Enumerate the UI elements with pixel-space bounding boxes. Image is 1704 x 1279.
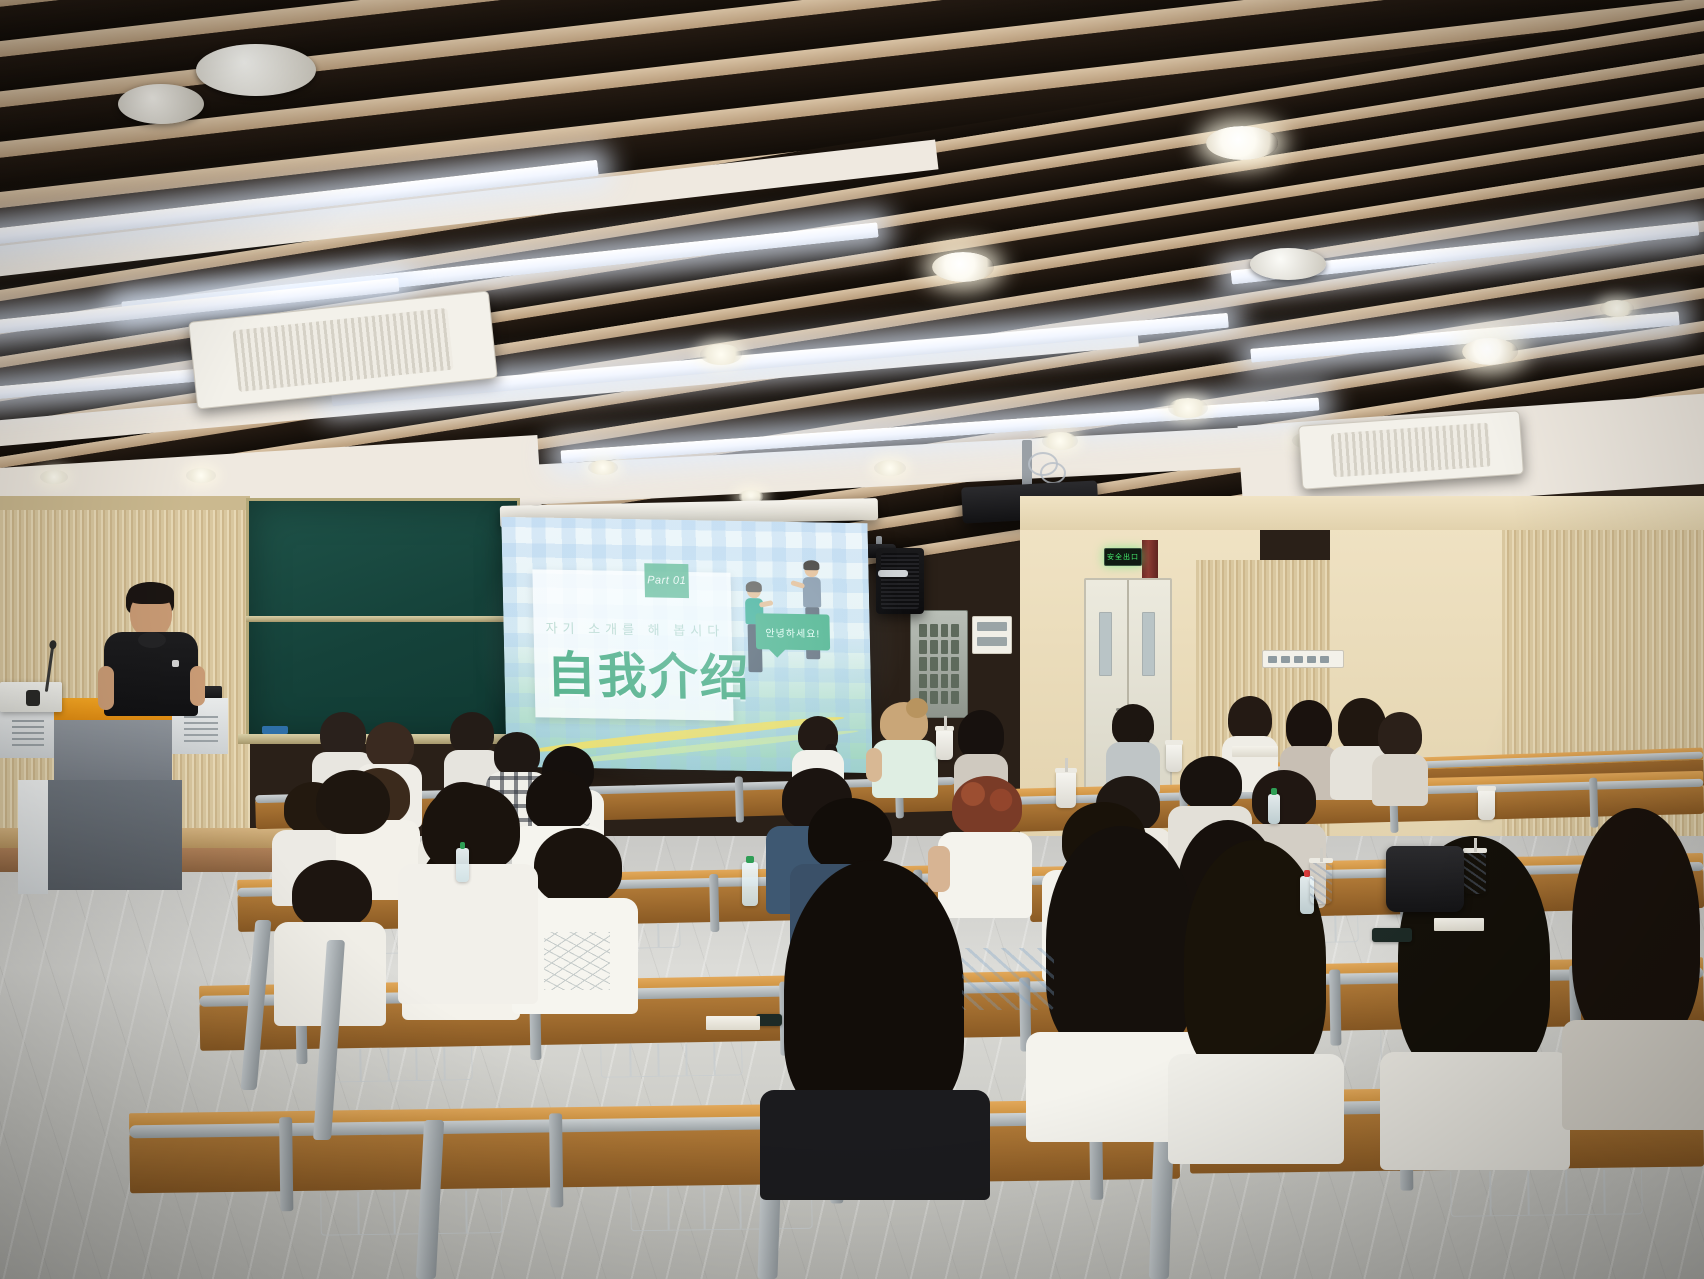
ceiling-downlight <box>700 344 742 365</box>
projector-cable <box>1040 462 1066 484</box>
notebook <box>1434 918 1484 931</box>
water-bottle <box>456 848 469 882</box>
figure-arm <box>759 600 774 608</box>
student-hair <box>1378 712 1422 758</box>
notebook <box>1232 746 1278 757</box>
drink-cup <box>1310 862 1332 904</box>
student-hair-long <box>1572 808 1700 1044</box>
student-hair <box>366 722 414 768</box>
water-bottle <box>742 862 758 906</box>
distribution-box <box>972 616 1012 654</box>
seat-post <box>549 1113 563 1207</box>
podium-side-wing-left <box>0 706 54 758</box>
slide-title: 自我介绍 <box>546 636 752 711</box>
slide-greeting-banner: 안녕하세요! <box>755 613 830 650</box>
door-window <box>1142 612 1155 676</box>
panel-buttons[interactable] <box>919 624 959 705</box>
seat-post <box>279 1117 293 1211</box>
mic-base <box>26 690 40 706</box>
speaker-bracket <box>878 570 908 577</box>
front-wall-slat-panel <box>0 496 250 510</box>
drink-cup <box>1464 852 1486 894</box>
book-basket <box>600 1042 743 1077</box>
figure-hair <box>803 560 819 570</box>
student-hair <box>422 784 520 872</box>
upper-wall-band <box>1020 496 1704 530</box>
student-front <box>398 784 538 984</box>
student-hair <box>316 770 390 834</box>
ceiling-downlight <box>874 460 906 476</box>
speaker-grille <box>881 553 919 608</box>
smartphone[interactable] <box>1372 928 1412 942</box>
exit-sign-label: 安全出口 <box>1107 552 1139 562</box>
lecturer-arm-right <box>190 666 205 706</box>
smoke-detector-icon <box>118 84 204 124</box>
switch-toggle[interactable] <box>1268 656 1277 663</box>
lecture-hall-photo: 安全出口 Part 01 자기 소개를 해 봅시다 自我介绍 <box>0 0 1704 1279</box>
student-hair <box>958 710 1004 760</box>
ceiling-downlight <box>1168 398 1208 418</box>
notebook <box>706 1016 760 1030</box>
shirt-logo-icon <box>172 660 179 667</box>
sprinkler-head-icon <box>196 44 316 96</box>
student <box>872 702 938 790</box>
ceiling-downlight <box>932 252 994 282</box>
water-bottle <box>1268 794 1280 824</box>
ceiling-downlight <box>186 468 216 483</box>
switch-toggle[interactable] <box>1294 656 1303 663</box>
student <box>1372 712 1428 798</box>
ceiling-downlight <box>40 470 68 484</box>
student-torso <box>1562 1020 1704 1130</box>
lecturer <box>96 582 206 722</box>
student-torso <box>398 864 538 1004</box>
drink-cup <box>1056 772 1076 808</box>
figure-hair <box>746 581 762 592</box>
banner-label: 안녕하세요! <box>765 624 820 640</box>
sprinkler-head-icon <box>1250 248 1326 280</box>
seat-post <box>735 776 744 822</box>
ceiling-downlight <box>1462 338 1518 365</box>
student-hair <box>1180 756 1242 810</box>
student-torso <box>760 1090 990 1200</box>
ac-vent-grille <box>1330 422 1491 478</box>
slide-part-badge: Part 01 <box>644 563 689 598</box>
switch-toggle[interactable] <box>1320 656 1329 663</box>
student-front <box>1562 808 1704 1108</box>
drink-cup <box>936 730 953 760</box>
ceiling-downlight <box>1600 300 1634 317</box>
student-torso <box>1168 1054 1344 1164</box>
drink-cup <box>1478 790 1495 820</box>
student-torso <box>1380 1052 1570 1170</box>
drink-cup <box>1166 744 1182 772</box>
lecturer-collar <box>138 632 166 648</box>
student-torso <box>1372 754 1428 806</box>
book-basket <box>1450 1169 1643 1217</box>
book-basket <box>320 1190 503 1236</box>
student-hair-bun <box>906 698 928 718</box>
wall-speaker <box>876 548 924 614</box>
student-arm <box>866 748 882 782</box>
book-basket <box>330 1047 473 1082</box>
podium-pedestal <box>44 780 182 890</box>
switch-toggle[interactable] <box>1307 656 1316 663</box>
door-window <box>1099 612 1112 676</box>
student-front <box>760 860 990 1180</box>
seat-post <box>709 874 719 932</box>
light-switch-plate[interactable] <box>1262 650 1344 668</box>
student-hair-curly <box>952 776 1022 836</box>
podium-front-panel <box>54 720 172 780</box>
bench-row-d <box>129 1099 1181 1264</box>
ceiling-downlight <box>588 460 618 475</box>
student-hair <box>1286 700 1332 752</box>
podium-pedestal-face <box>18 780 48 894</box>
ac-vent-grille <box>232 308 453 392</box>
lecturer-hair-top <box>128 582 174 604</box>
backpack <box>1386 846 1464 912</box>
tshirt-graphic <box>544 932 610 990</box>
chalkboard-rail <box>246 616 514 622</box>
lecture-podium <box>0 690 240 920</box>
figure-torso <box>803 577 822 607</box>
ceiling-downlight <box>1042 432 1078 450</box>
student <box>300 770 404 910</box>
student-hair-long <box>784 860 964 1120</box>
switch-toggle[interactable] <box>1281 656 1290 663</box>
plastic-bag <box>962 948 1054 1010</box>
lecturer-arm-left <box>98 666 114 710</box>
student-hair <box>534 828 622 904</box>
chalk-eraser <box>262 726 288 734</box>
ceiling-downlight <box>1206 126 1278 160</box>
exit-sign: 安全出口 <box>1104 548 1142 566</box>
part-badge-label: Part 01 <box>647 574 686 587</box>
